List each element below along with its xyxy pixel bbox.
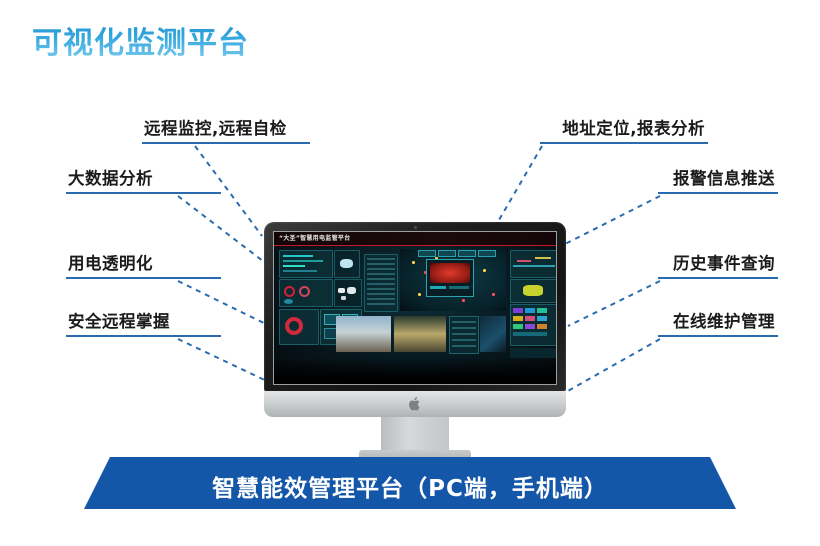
bottom-banner-text: 智慧能效管理平台（PC端，手机端）	[84, 469, 736, 503]
monitor-screen[interactable]: “大圣”智慧用电监管平台	[273, 231, 557, 385]
dashboard-widget-donuts	[279, 279, 333, 307]
dashboard-map-popup	[426, 259, 474, 297]
connector-right-3	[568, 281, 660, 326]
apple-logo-icon	[408, 396, 422, 412]
feature-right-3-underline	[658, 277, 778, 279]
dashboard-widget-line-chart	[279, 250, 333, 278]
feature-right-4-label: 在线维护管理	[658, 311, 778, 335]
connector-right-2	[565, 196, 660, 244]
feature-left-1[interactable]: 远程监控,远程自检	[142, 118, 310, 144]
dashboard-widget-world-map	[334, 279, 362, 307]
feature-left-2[interactable]: 大数据分析	[66, 168, 221, 194]
feature-left-1-underline	[142, 142, 310, 144]
dashboard-footer-bar	[510, 348, 556, 358]
feature-left-4-underline	[66, 335, 221, 337]
bottom-banner: 智慧能效管理平台（PC端，手机端）	[84, 457, 736, 509]
feature-right-1-underline	[540, 142, 708, 144]
monitor-bezel: “大圣”智慧用电监管平台	[264, 222, 566, 392]
feature-right-4[interactable]: 在线维护管理	[658, 311, 778, 337]
dashboard-widget-table	[364, 254, 398, 312]
page-title: 可视化监测平台	[32, 18, 249, 62]
feature-right-2[interactable]: 报警信息推送	[658, 168, 778, 194]
dashboard-widget-status-tiles	[510, 304, 556, 346]
imac-monitor: “大圣”智慧用电监管平台	[264, 222, 566, 461]
monitor-stand-neck	[381, 417, 449, 450]
feature-left-1-label: 远程监控,远程自检	[142, 118, 310, 142]
feature-left-4[interactable]: 安全远程掌握	[66, 311, 221, 337]
dashboard-widget-area-chart	[510, 250, 556, 278]
feature-left-2-underline	[66, 192, 221, 194]
feature-right-2-label: 报警信息推送	[658, 168, 778, 192]
dashboard-ui: “大圣”智慧用电监管平台	[274, 232, 556, 384]
dashboard-widget-3d-model	[510, 279, 556, 303]
feature-left-3[interactable]: 用电透明化	[66, 253, 221, 279]
feature-right-3-label: 历史事件查询	[658, 253, 778, 277]
dashboard-camera-feed-2	[394, 316, 446, 352]
feature-right-4-underline	[658, 335, 778, 337]
feature-right-1[interactable]: 地址定位,报表分析	[540, 118, 708, 144]
feature-right-3[interactable]: 历史事件查询	[658, 253, 778, 279]
monitor-chin	[264, 391, 566, 417]
webcam-icon	[414, 226, 417, 229]
feature-left-3-label: 用电透明化	[66, 253, 221, 277]
screen-vignette	[274, 358, 556, 384]
dashboard-title: “大圣”智慧用电监管平台	[279, 233, 351, 242]
connector-right-1	[492, 146, 542, 232]
feature-left-4-label: 安全远程掌握	[66, 311, 221, 335]
feature-left-3-underline	[66, 277, 221, 279]
visualization-platform-infographic: 可视化监测平台 远程监控,远程自检 大数据分析 用电透明化 安全远程掌握 地址定…	[0, 0, 820, 546]
connector-right-4	[566, 339, 660, 392]
feature-right-1-label: 地址定位,报表分析	[540, 118, 708, 142]
dashboard-camera-feed-1	[336, 316, 391, 352]
dashboard-center-map	[400, 249, 506, 311]
dashboard-camera-feed-3	[480, 316, 506, 352]
dashboard-widget-globe	[334, 250, 360, 278]
feature-right-2-underline	[658, 192, 778, 194]
dashboard-widget-list	[449, 316, 479, 354]
dashboard-widget-gauge	[279, 309, 319, 345]
feature-left-2-label: 大数据分析	[66, 168, 221, 192]
